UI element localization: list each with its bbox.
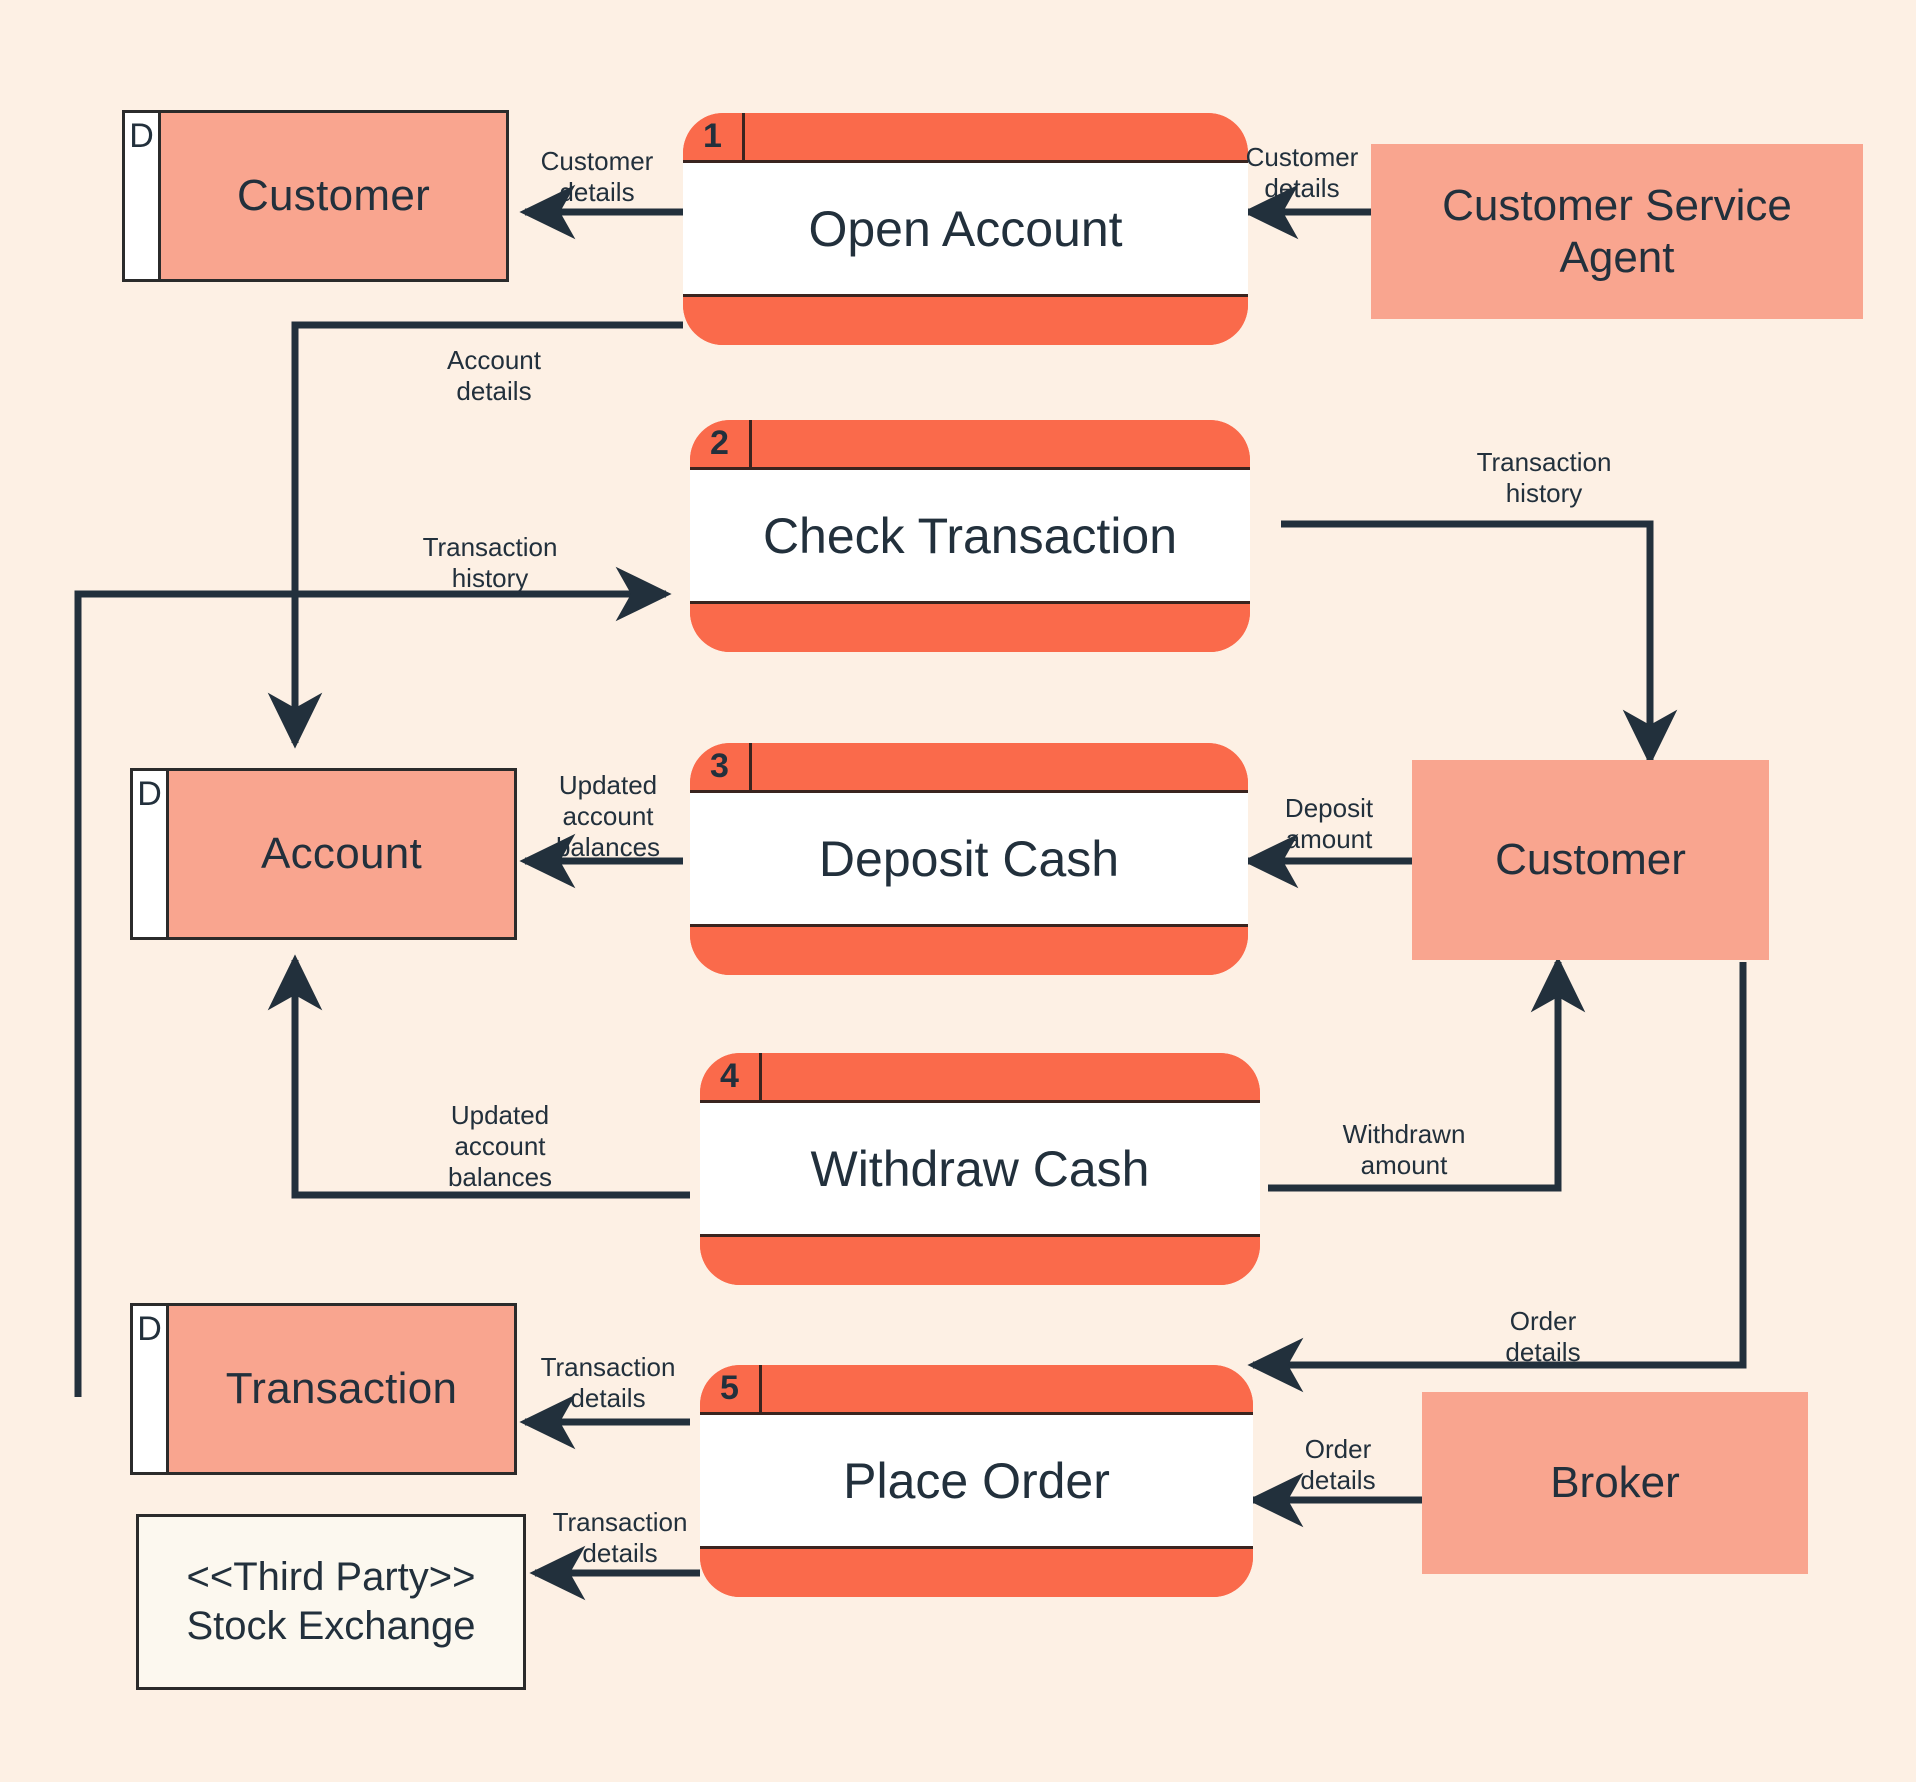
process-open-account[interactable]: 1 Open Account xyxy=(683,113,1248,345)
process-number: 3 xyxy=(690,743,752,790)
process-footer xyxy=(690,604,1250,652)
flow-label-transaction-details-store: Transaction details xyxy=(541,1352,676,1414)
process-check-transaction[interactable]: 2 Check Transaction xyxy=(690,420,1250,652)
datastore-key-letter: D xyxy=(125,113,161,279)
process-label: Open Account xyxy=(683,163,1248,297)
process-header: 3 xyxy=(690,743,1248,793)
process-place-order[interactable]: 5 Place Order xyxy=(700,1365,1253,1597)
flow-label-order-details-customer: Order details xyxy=(1505,1306,1580,1368)
process-deposit-cash[interactable]: 3 Deposit Cash xyxy=(690,743,1248,975)
entity-label: <<Third Party>> Stock Exchange xyxy=(186,1553,475,1651)
process-header: 2 xyxy=(690,420,1250,470)
entity-label: Customer Service Agent xyxy=(1381,180,1853,284)
process-footer xyxy=(690,927,1248,975)
process-label: Check Transaction xyxy=(690,470,1250,604)
process-label: Withdraw Cash xyxy=(700,1103,1260,1237)
dfd-canvas: D Customer D Account D Transaction Custo… xyxy=(0,0,1916,1782)
flow-label-transaction-details-exchange: Transaction details xyxy=(553,1507,688,1569)
entity-label: Broker xyxy=(1550,1457,1680,1509)
datastore-label: Account xyxy=(169,771,514,937)
datastore-transaction[interactable]: D Transaction xyxy=(130,1303,517,1475)
process-label: Deposit Cash xyxy=(690,793,1248,927)
process-number: 5 xyxy=(700,1365,762,1412)
flow-label-account-details: Account details xyxy=(447,345,541,407)
entity-third-party-stock-exchange[interactable]: <<Third Party>> Stock Exchange xyxy=(136,1514,526,1690)
process-number: 4 xyxy=(700,1053,762,1100)
flow-arrow-transaction-history-out xyxy=(1281,524,1650,760)
datastore-label: Customer xyxy=(161,113,506,279)
flow-arrow-transaction-history-in xyxy=(78,594,666,1397)
process-footer xyxy=(700,1549,1253,1597)
flow-label-transaction-history-out: Transaction history xyxy=(1477,447,1612,509)
process-number: 2 xyxy=(690,420,752,467)
datastore-key-letter: D xyxy=(133,771,169,937)
process-header: 1 xyxy=(683,113,1248,163)
process-footer xyxy=(700,1237,1260,1285)
flow-label-customer-details-out: Customer details xyxy=(541,146,654,208)
process-number: 1 xyxy=(683,113,745,160)
flow-label-transaction-history-in: Transaction history xyxy=(423,532,558,594)
process-header: 4 xyxy=(700,1053,1260,1103)
process-label: Place Order xyxy=(700,1415,1253,1549)
entity-broker[interactable]: Broker xyxy=(1422,1392,1808,1574)
process-header: 5 xyxy=(700,1365,1253,1415)
entity-customer[interactable]: Customer xyxy=(1412,760,1769,960)
flow-arrow-order-details-customer xyxy=(1253,962,1743,1365)
flow-label-customer-details-in: Customer details xyxy=(1246,142,1359,204)
flow-label-updated-balances-deposit: Updated account balances xyxy=(556,770,660,864)
flow-label-updated-balances-withdraw: Updated account balances xyxy=(448,1100,552,1194)
flow-label-order-details-broker: Order details xyxy=(1300,1434,1375,1496)
process-footer xyxy=(683,297,1248,345)
entity-customer-service-agent[interactable]: Customer Service Agent xyxy=(1371,144,1863,319)
datastore-label: Transaction xyxy=(169,1306,514,1472)
datastore-customer[interactable]: D Customer xyxy=(122,110,509,282)
datastore-account[interactable]: D Account xyxy=(130,768,517,940)
flow-label-withdrawn-amount: Withdrawn amount xyxy=(1343,1119,1466,1181)
process-withdraw-cash[interactable]: 4 Withdraw Cash xyxy=(700,1053,1260,1285)
entity-label: Customer xyxy=(1495,834,1686,886)
flow-label-deposit-amount: Deposit amount xyxy=(1285,793,1373,855)
datastore-key-letter: D xyxy=(133,1306,169,1472)
